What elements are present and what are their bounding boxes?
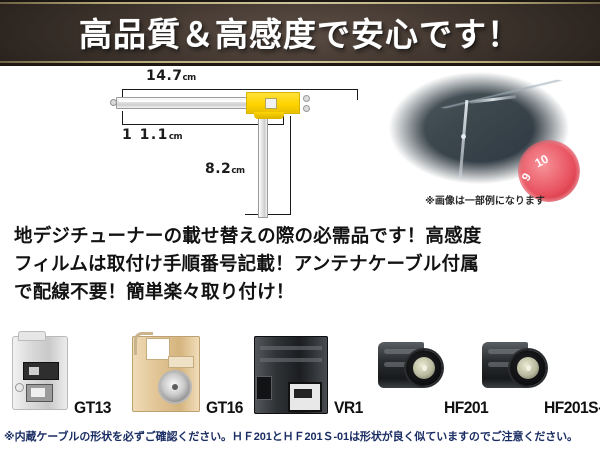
dimension-bracket-height — [245, 116, 291, 215]
connector-pad-base — [254, 112, 284, 119]
photo-caption: ※画像は一部例になります — [386, 192, 584, 207]
description-line-2: フィルムは取付け手順番号記載！アンテナケーブル付属 — [14, 250, 586, 278]
gt13-side-dot-icon — [15, 383, 24, 392]
dimension-unit-height: cm — [231, 166, 244, 176]
dimension-value-width-total: 14.7 — [146, 68, 183, 84]
hf201s01-coax-ring — [510, 350, 546, 386]
vr1-rib-1 — [260, 346, 322, 350]
connector-label-gt13: GT13 — [74, 398, 111, 418]
description-line-1: 地デジチューナーの載せ替えの際の必需品です！高感度 — [14, 222, 586, 250]
dimension-unit-width-inner: cm — [169, 132, 182, 142]
vr1-connector-icon — [254, 336, 328, 414]
sticker-number-10: 10 — [532, 152, 550, 171]
gt13-lower-port — [26, 384, 53, 402]
vr1-port — [288, 382, 322, 412]
connector-item-hf201s01: HF201S-01 — [482, 334, 600, 420]
banner-top-edge — [0, 0, 600, 2]
dimension-unit-width-total: cm — [183, 73, 196, 83]
antenna-film-connector-pad — [246, 92, 300, 114]
vr1-side-notch — [256, 376, 272, 400]
connector-item-vr1: VR1 — [254, 334, 384, 420]
installation-example-photo: 9 10 ※画像は一部例になります — [386, 70, 584, 190]
connector-label-gt16: GT16 — [206, 398, 243, 418]
sticker-number-9: 9 — [519, 171, 534, 184]
dimension-label-width-inner: 1 1.1cm — [122, 127, 182, 143]
gt16-latch-tab — [168, 356, 194, 368]
connector-label-hf201s01: HF201S-01 — [544, 398, 600, 418]
gt13-upper-port — [23, 362, 59, 380]
gt16-connector-icon — [132, 336, 200, 412]
gt13-top-clip — [18, 331, 46, 341]
connector-pad-contact-icon — [265, 98, 277, 109]
connector-type-row: GT13 GT16 VR1 — [0, 334, 600, 420]
film-right-eyelet-bottom-icon — [303, 105, 310, 112]
dimension-label-width-total: 14.7cm — [146, 68, 196, 84]
hf201-coax-ring — [406, 350, 442, 386]
gt16-top-slot — [146, 338, 170, 360]
film-right-eyelet-top-icon — [303, 95, 310, 102]
antenna-dimension-diagram: 14.7cm 1 1.1cm 8.2cm — [0, 66, 380, 218]
header-banner: 高品質＆高感度で安心です！ — [0, 0, 600, 66]
gt16-coax-barrel — [160, 372, 190, 402]
vr1-rib-2 — [260, 358, 322, 362]
connector-item-hf201: HF201 — [378, 334, 498, 420]
gt13-connector-icon — [12, 336, 68, 410]
dimension-value-width-inner: 1 1.1 — [122, 127, 169, 143]
connector-item-gt13: GT13 — [8, 334, 128, 420]
banner-title: 高品質＆高感度で安心です！ — [0, 8, 600, 56]
connector-item-gt16: GT16 — [130, 334, 260, 420]
dimension-label-height: 8.2cm — [205, 161, 245, 177]
connector-label-vr1: VR1 — [334, 398, 363, 418]
description-line-3: で配線不要！簡単楽々取り付け！ — [14, 278, 586, 306]
product-banner-image: 高品質＆高感度で安心です！ 14.7cm 1 1.1cm 8.2cm 9 10 … — [0, 0, 600, 450]
hf201s01-connector-icon — [482, 336, 548, 398]
windshield-glass-edge — [426, 76, 576, 112]
installed-antenna-node-icon — [461, 134, 466, 139]
dimension-value-height: 8.2 — [205, 161, 231, 177]
product-description: 地デジチューナーの載せ替えの際の必需品です！高感度 フィルムは取付け手順番号記載… — [14, 222, 586, 306]
hf201-connector-icon — [378, 336, 444, 398]
antenna-film-vertical-arm — [258, 110, 268, 218]
footer-note: ※内蔵ケーブルの形状を必ずご確認ください。ＨＦ201とＨＦ201Ｓ-01は形状が… — [4, 428, 598, 444]
